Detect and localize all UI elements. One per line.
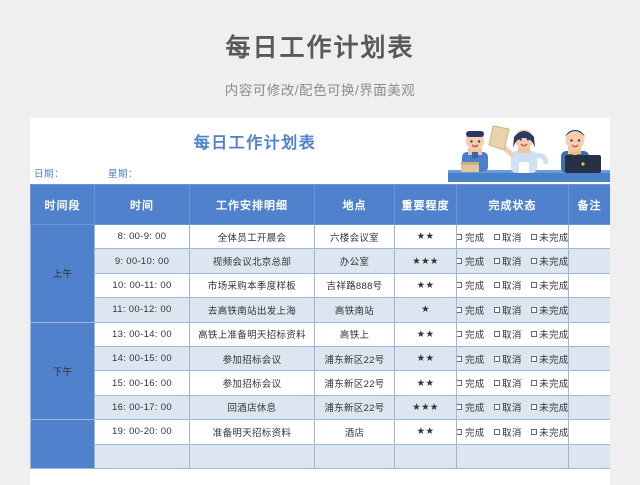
cell-place[interactable]: 浦东新区22号 [315, 371, 395, 395]
cell-detail[interactable] [190, 444, 315, 468]
status-checkbox-cancelled[interactable]: 取消 [494, 303, 522, 317]
checkbox-icon[interactable] [531, 234, 537, 240]
status-checkbox-cancelled[interactable]: 取消 [494, 327, 522, 341]
status-label: 未完成 [539, 327, 568, 341]
cell-time[interactable]: 11: 00-12: 00 [95, 298, 190, 322]
status-label: 未完成 [539, 425, 568, 439]
status-label: 未完成 [539, 303, 568, 317]
cell-time[interactable]: 9: 00-10: 00 [95, 249, 190, 273]
status-label: 完成 [465, 425, 485, 439]
checkbox-icon[interactable] [531, 429, 537, 435]
status-checkbox-not-done[interactable]: 未完成 [531, 254, 569, 268]
cell-priority-stars[interactable]: ★★★ [395, 249, 457, 273]
checkbox-icon[interactable] [457, 282, 463, 288]
status-label: 取消 [502, 352, 522, 366]
cell-priority-stars[interactable]: ★★ [395, 322, 457, 346]
checkbox-icon[interactable] [457, 234, 463, 240]
table-row: 10: 00-11: 00市场采购本季度样板吉祥路888号★★完成取消未完成 [31, 273, 611, 297]
status-label: 取消 [502, 425, 522, 439]
cell-period: 上午 [31, 225, 95, 323]
page-root: 每日工作计划表 内容可修改/配色可换/界面美观 每日工作计划表 [0, 0, 640, 485]
status-checkbox-not-done[interactable]: 未完成 [531, 303, 569, 317]
status-checkbox-cancelled[interactable]: 取消 [494, 425, 522, 439]
checkbox-icon[interactable] [494, 234, 500, 240]
table-head: 时间段 时间 工作安排明细 地点 重要程度 完成状态 备注 [31, 185, 611, 225]
date-label: 日期： [34, 166, 64, 180]
work-plan-table: 时间段 时间 工作安排明细 地点 重要程度 完成状态 备注 上午8: 00-9:… [30, 184, 610, 469]
checkbox-icon[interactable] [457, 258, 463, 264]
plan-card: 每日工作计划表 [30, 118, 610, 485]
status-checkbox-not-done[interactable]: 未完成 [531, 376, 569, 390]
cell-priority-stars[interactable]: ★★ [395, 273, 457, 297]
status-checkbox-cancelled[interactable]: 取消 [494, 254, 522, 268]
col-header-status: 完成状态 [457, 185, 569, 225]
cell-status: 完成取消未完成 [457, 249, 569, 273]
checkbox-icon[interactable] [531, 356, 537, 362]
status-checkbox-group: 完成取消未完成 [457, 425, 568, 439]
cell-time[interactable]: 14: 00-15: 00 [95, 346, 190, 370]
cell-note[interactable] [569, 249, 611, 273]
cell-period [31, 420, 95, 469]
table-body: 上午8: 00-9: 00全体员工开晨会六楼会议室★★完成取消未完成9: 00-… [31, 225, 611, 469]
status-checkbox-done[interactable]: 完成 [457, 230, 485, 244]
cell-status: 完成取消未完成 [457, 346, 569, 370]
checkbox-icon[interactable] [457, 404, 463, 410]
cell-detail[interactable]: 高铁上准备明天招标资料 [190, 322, 315, 346]
outer-header: 每日工作计划表 内容可修改/配色可换/界面美观 [0, 0, 640, 99]
status-checkbox-group: 完成取消未完成 [457, 327, 568, 341]
cell-note[interactable] [569, 298, 611, 322]
status-label: 取消 [502, 400, 522, 414]
cell-place[interactable]: 高铁南站 [315, 298, 395, 322]
cell-place[interactable]: 六楼会议室 [315, 225, 395, 249]
checkbox-icon[interactable] [457, 331, 463, 337]
cell-status: 完成取消未完成 [457, 395, 569, 419]
checkbox-icon[interactable] [494, 404, 500, 410]
page-subtitle: 内容可修改/配色可换/界面美观 [0, 79, 640, 99]
cell-time[interactable]: 8: 00-9: 00 [95, 225, 190, 249]
status-checkbox-group: 完成取消未完成 [457, 278, 568, 292]
table-row: 9: 00-10: 00视频会议北京总部办公室★★★完成取消未完成 [31, 249, 611, 273]
cell-detail[interactable]: 参加招标会议 [190, 346, 315, 370]
col-header-time: 时间 [95, 185, 190, 225]
status-label: 取消 [502, 230, 522, 244]
checkbox-icon[interactable] [531, 331, 537, 337]
cell-detail[interactable]: 准备明天招标资料 [190, 420, 315, 444]
status-checkbox-done[interactable]: 完成 [457, 254, 485, 268]
weekday-label: 星期： [108, 166, 138, 180]
cell-time[interactable]: 10: 00-11: 00 [95, 273, 190, 297]
cell-note[interactable] [569, 395, 611, 419]
status-checkbox-group: 完成取消未完成 [457, 303, 568, 317]
status-checkbox-cancelled[interactable]: 取消 [494, 352, 522, 366]
cell-priority-stars[interactable]: ★★★ [395, 395, 457, 419]
checkbox-icon[interactable] [457, 380, 463, 386]
status-label: 完成 [465, 352, 485, 366]
cell-detail[interactable]: 视频会议北京总部 [190, 249, 315, 273]
checkbox-icon[interactable] [457, 307, 463, 313]
cell-place[interactable]: 高铁上 [315, 322, 395, 346]
status-checkbox-cancelled[interactable]: 取消 [494, 278, 522, 292]
meta-row: 日期： 星期： [30, 162, 610, 184]
status-label: 完成 [465, 278, 485, 292]
checkbox-icon[interactable] [531, 307, 537, 313]
cell-time[interactable]: 19: 00-20: 00 [95, 420, 190, 444]
status-checkbox-done[interactable]: 完成 [457, 400, 485, 414]
checkbox-icon[interactable] [494, 307, 500, 313]
table-header-row: 时间段 时间 工作安排明细 地点 重要程度 完成状态 备注 [31, 185, 611, 225]
status-label: 未完成 [539, 400, 568, 414]
checkbox-icon[interactable] [457, 429, 463, 435]
col-header-note: 备注 [569, 185, 611, 225]
cell-detail[interactable]: 回酒店休息 [190, 395, 315, 419]
status-checkbox-group: 完成取消未完成 [457, 352, 568, 366]
cell-note[interactable] [569, 225, 611, 249]
status-label: 完成 [465, 376, 485, 390]
status-label: 完成 [465, 400, 485, 414]
cell-time[interactable] [95, 444, 190, 468]
cell-note[interactable] [569, 346, 611, 370]
cell-place[interactable]: 浦东新区22号 [315, 346, 395, 370]
table-row: 上午8: 00-9: 00全体员工开晨会六楼会议室★★完成取消未完成 [31, 225, 611, 249]
cell-note[interactable] [569, 371, 611, 395]
cell-detail[interactable]: 市场采购本季度样板 [190, 273, 315, 297]
cell-time[interactable]: 15: 00-16: 00 [95, 371, 190, 395]
status-checkbox-cancelled[interactable]: 取消 [494, 376, 522, 390]
col-header-detail: 工作安排明细 [190, 185, 315, 225]
status-checkbox-done[interactable]: 完成 [457, 425, 485, 439]
status-label: 完成 [465, 254, 485, 268]
cell-place[interactable]: 浦东新区22号 [315, 395, 395, 419]
checkbox-icon[interactable] [494, 282, 500, 288]
status-label: 取消 [502, 278, 522, 292]
status-label: 未完成 [539, 278, 568, 292]
cell-place[interactable]: 吉祥路888号 [315, 273, 395, 297]
status-checkbox-group: 完成取消未完成 [457, 254, 568, 268]
status-checkbox-done[interactable]: 完成 [457, 303, 485, 317]
cell-status: 完成取消未完成 [457, 420, 569, 444]
cell-note[interactable] [569, 444, 611, 468]
cell-place[interactable]: 办公室 [315, 249, 395, 273]
checkbox-icon[interactable] [494, 356, 500, 362]
table-row: 11: 00-12: 00去高铁南站出发上海高铁南站★完成取消未完成 [31, 298, 611, 322]
table-row [31, 444, 611, 468]
cell-status: 完成取消未完成 [457, 225, 569, 249]
cell-priority-stars[interactable]: ★★ [395, 346, 457, 370]
cell-detail[interactable]: 全体员工开晨会 [190, 225, 315, 249]
status-checkbox-not-done[interactable]: 未完成 [531, 352, 569, 366]
status-checkbox-not-done[interactable]: 未完成 [531, 278, 569, 292]
cell-place[interactable] [315, 444, 395, 468]
cell-priority-stars[interactable] [395, 444, 457, 468]
checkbox-icon[interactable] [494, 429, 500, 435]
cell-note[interactable] [569, 420, 611, 444]
status-label: 未完成 [539, 376, 568, 390]
status-checkbox-group: 完成取消未完成 [457, 230, 568, 244]
checkbox-icon[interactable] [494, 380, 500, 386]
cell-priority-stars[interactable]: ★★ [395, 371, 457, 395]
cell-priority-stars[interactable]: ★★ [395, 225, 457, 249]
cell-status: 完成取消未完成 [457, 298, 569, 322]
status-checkbox-done[interactable]: 完成 [457, 352, 485, 366]
cell-detail[interactable]: 参加招标会议 [190, 371, 315, 395]
table-row: 15: 00-16: 00参加招标会议浦东新区22号★★完成取消未完成 [31, 371, 611, 395]
status-checkbox-group: 完成取消未完成 [457, 376, 568, 390]
status-label: 完成 [465, 303, 485, 317]
checkbox-icon[interactable] [457, 356, 463, 362]
status-label: 取消 [502, 327, 522, 341]
cell-status: 完成取消未完成 [457, 273, 569, 297]
status-label: 未完成 [539, 254, 568, 268]
status-label: 取消 [502, 254, 522, 268]
status-checkbox-done[interactable]: 完成 [457, 376, 485, 390]
status-label: 取消 [502, 303, 522, 317]
status-checkbox-not-done[interactable]: 未完成 [531, 327, 569, 341]
cell-note[interactable] [569, 322, 611, 346]
col-header-priority: 重要程度 [395, 185, 457, 225]
status-checkbox-not-done[interactable]: 未完成 [531, 425, 569, 439]
checkbox-icon[interactable] [494, 258, 500, 264]
page-title: 每日工作计划表 [0, 33, 640, 63]
status-checkbox-cancelled[interactable]: 取消 [494, 230, 522, 244]
checkbox-icon[interactable] [531, 404, 537, 410]
cell-period: 下午 [31, 322, 95, 420]
cell-status [457, 444, 569, 468]
status-checkbox-done[interactable]: 完成 [457, 278, 485, 292]
status-checkbox-group: 完成取消未完成 [457, 400, 568, 414]
card-titlebar: 每日工作计划表 [30, 118, 610, 162]
cell-note[interactable] [569, 273, 611, 297]
table-row: 19: 00-20: 00准备明天招标资料酒店★★完成取消未完成 [31, 420, 611, 444]
cell-time[interactable]: 13: 00-14: 00 [95, 322, 190, 346]
status-label: 取消 [502, 376, 522, 390]
cell-priority-stars[interactable]: ★ [395, 298, 457, 322]
cell-priority-stars[interactable]: ★★ [395, 420, 457, 444]
cell-status: 完成取消未完成 [457, 322, 569, 346]
checkbox-icon[interactable] [531, 282, 537, 288]
cell-place[interactable]: 酒店 [315, 420, 395, 444]
status-label: 未完成 [539, 352, 568, 366]
col-header-period: 时间段 [31, 185, 95, 225]
col-header-place: 地点 [315, 185, 395, 225]
status-label: 未完成 [539, 230, 568, 244]
status-label: 完成 [465, 327, 485, 341]
cell-status: 完成取消未完成 [457, 371, 569, 395]
table-row: 下午13: 00-14: 00高铁上准备明天招标资料高铁上★★完成取消未完成 [31, 322, 611, 346]
status-checkbox-not-done[interactable]: 未完成 [531, 400, 569, 414]
status-checkbox-cancelled[interactable]: 取消 [494, 400, 522, 414]
table-row: 14: 00-15: 00参加招标会议浦东新区22号★★完成取消未完成 [31, 346, 611, 370]
cell-time[interactable]: 16: 00-17: 00 [95, 395, 190, 419]
cell-detail[interactable]: 去高铁南站出发上海 [190, 298, 315, 322]
checkbox-icon[interactable] [494, 331, 500, 337]
status-checkbox-not-done[interactable]: 未完成 [531, 230, 569, 244]
checkbox-icon[interactable] [531, 258, 537, 264]
status-label: 完成 [465, 230, 485, 244]
checkbox-icon[interactable] [531, 380, 537, 386]
table-row: 16: 00-17: 00回酒店休息浦东新区22号★★★完成取消未完成 [31, 395, 611, 419]
status-checkbox-done[interactable]: 完成 [457, 327, 485, 341]
